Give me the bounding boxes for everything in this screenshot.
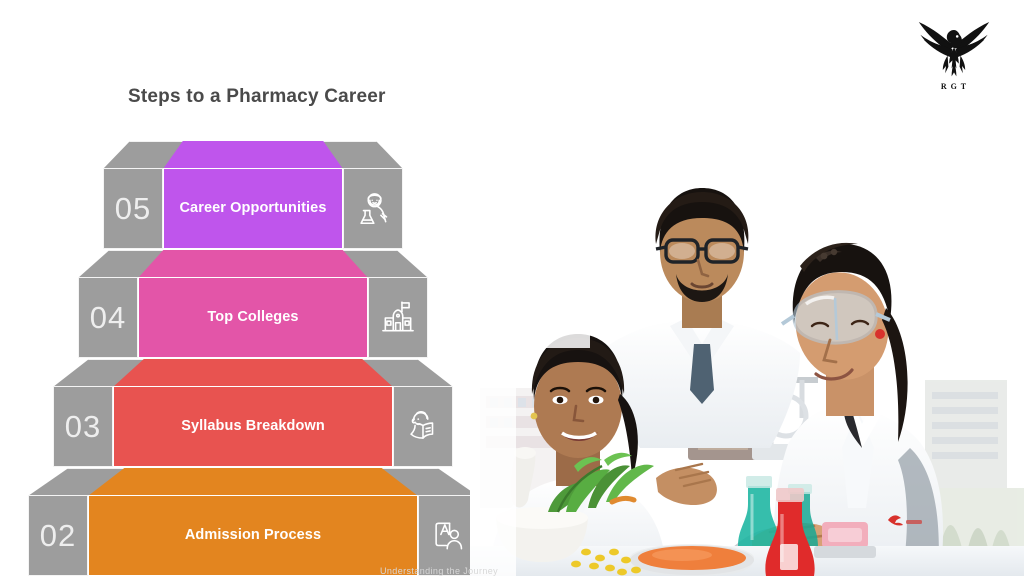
- pharmacist-flask-icon: [354, 190, 392, 228]
- pyramid-step-04[interactable]: 04 Top Colleges: [78, 277, 428, 358]
- pyramid-step-05[interactable]: 05 Career Opportunities: [103, 168, 403, 249]
- step-05-bar[interactable]: Career Opportunities: [163, 168, 343, 249]
- step-02-number: 02: [40, 518, 76, 554]
- pyramid-step-03[interactable]: 03 Syllabus Breakdown: [53, 386, 453, 467]
- step-05-icon-box: [343, 168, 403, 249]
- step-04-bar[interactable]: Top Colleges: [138, 277, 368, 358]
- step-03-number-box: 03: [53, 386, 113, 467]
- pink-tray: [814, 522, 876, 558]
- eagle-phoenix-logo: R G T: [906, 14, 1002, 110]
- lab-scene-illustration: [470, 148, 1024, 576]
- page-title: Steps to a Pharmacy Career: [128, 86, 386, 108]
- bottom-caption: Understanding the Journey: [380, 566, 498, 576]
- step-04-top-face-color: [138, 250, 368, 278]
- step-04-number: 04: [90, 300, 126, 336]
- step-03-top-face-color: [113, 359, 393, 387]
- step-03-number: 03: [65, 409, 101, 445]
- step-03-icon-box: [393, 386, 453, 467]
- step-04-number-box: 04: [78, 277, 138, 358]
- step-02-label: Admission Process: [179, 526, 327, 544]
- pharmacy-lab-students-photo: [470, 148, 1024, 576]
- step-02-icon-box: [418, 495, 478, 576]
- orange-bowl: [630, 544, 754, 576]
- step-03-label: Syllabus Breakdown: [175, 417, 331, 435]
- step-04-label: Top Colleges: [201, 308, 304, 326]
- step-05-top-face-color: [163, 141, 343, 169]
- pyramid-step-02[interactable]: 02 Admission Process: [28, 495, 478, 576]
- step-02-top-face-color: [88, 468, 418, 496]
- logo-monogram: R G T: [906, 82, 1002, 91]
- person-reading-book-icon: [404, 408, 442, 446]
- admission-form-person-icon: [429, 517, 467, 555]
- step-03-bar[interactable]: Syllabus Breakdown: [113, 386, 393, 467]
- step-02-bar[interactable]: Admission Process: [88, 495, 418, 576]
- eagle-phoenix-icon: [906, 14, 1002, 86]
- college-building-icon: [379, 299, 417, 337]
- step-02-number-box: 02: [28, 495, 88, 576]
- step-04-icon-box: [368, 277, 428, 358]
- steps-pyramid: 05 Career Opportunities: [0, 140, 512, 576]
- step-05-number: 05: [115, 191, 151, 227]
- slide-canvas: Steps to a Pharmacy Career R G T: [0, 0, 1024, 576]
- step-05-label: Career Opportunities: [173, 199, 332, 217]
- step-05-number-box: 05: [103, 168, 163, 249]
